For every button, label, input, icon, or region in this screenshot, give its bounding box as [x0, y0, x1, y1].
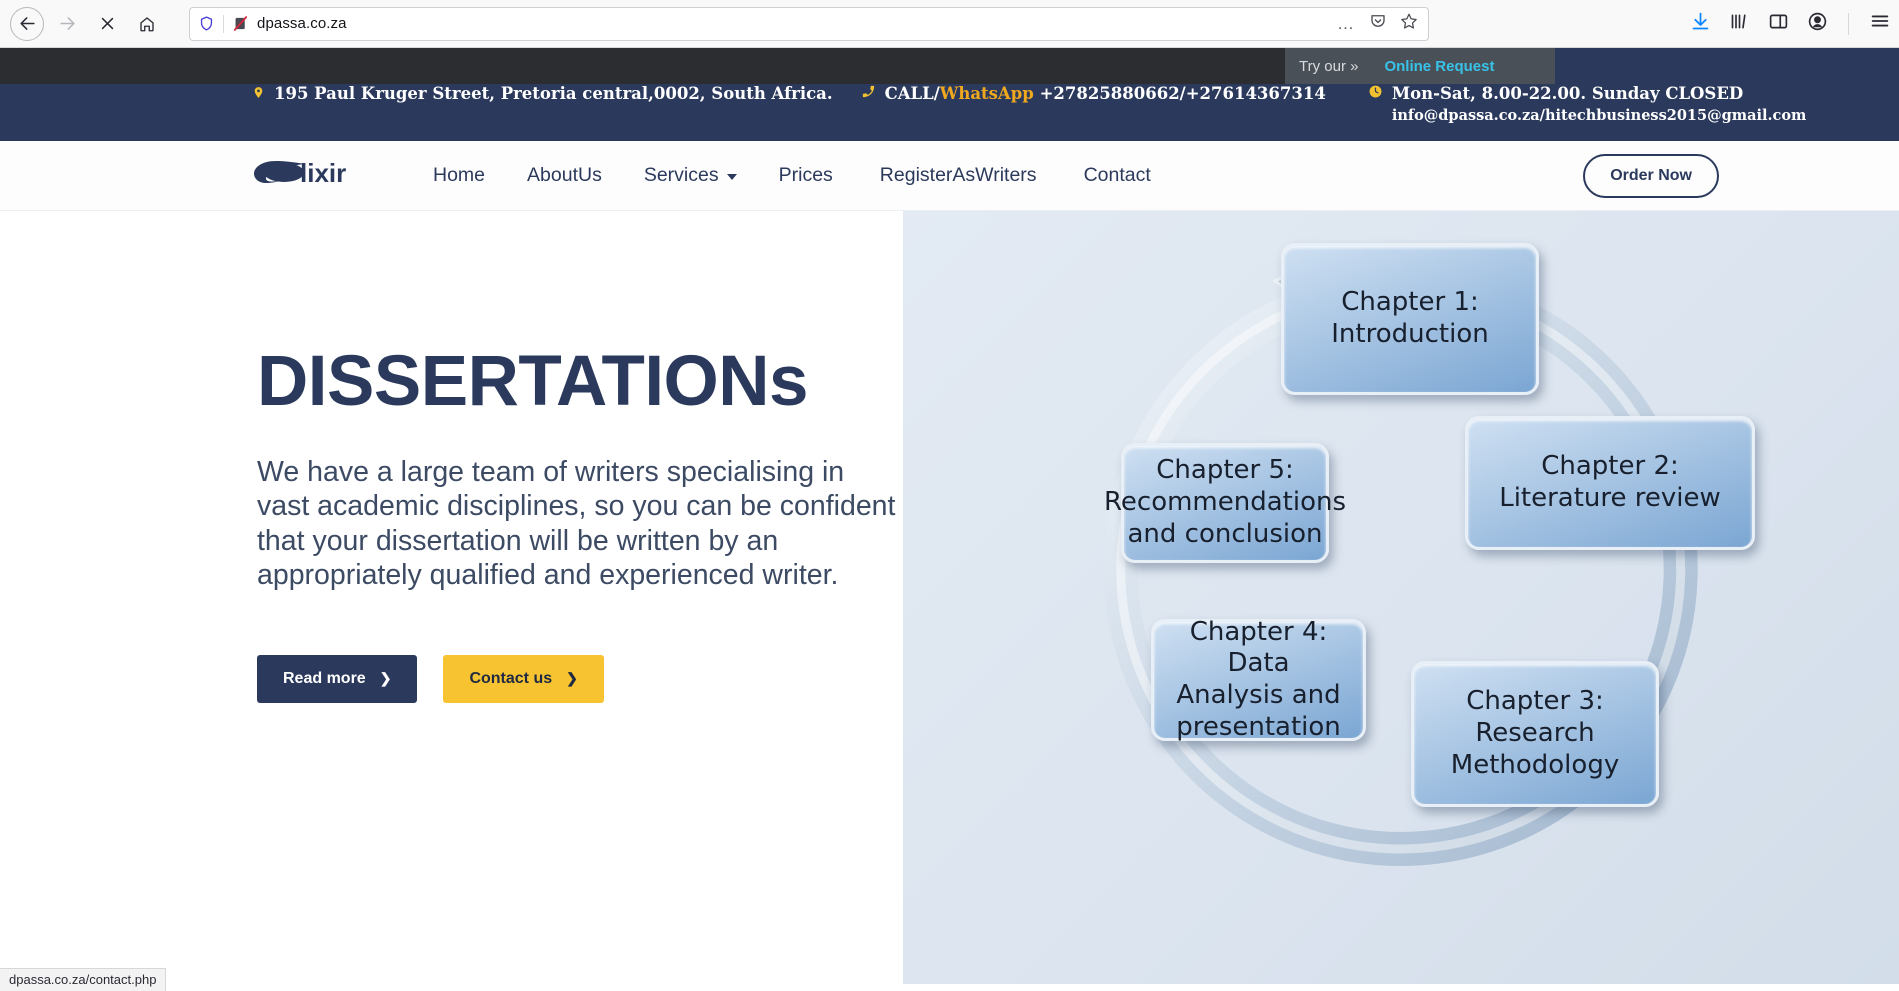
library-icon[interactable]	[1729, 11, 1750, 37]
chevron-down-icon	[727, 174, 737, 180]
email-text[interactable]: info@dpassa.co.za/hitechbusiness2015@gma…	[1392, 107, 1807, 124]
order-now-button[interactable]: Order Now	[1583, 154, 1719, 198]
nav-item-label: RegisterAsWriters	[880, 164, 1037, 187]
nav-item-label: Contact	[1084, 164, 1151, 187]
url-text[interactable]: dpassa.co.za	[257, 15, 1329, 32]
stop-icon[interactable]	[90, 7, 124, 41]
nav-item-contact[interactable]: Contact	[1063, 164, 1172, 187]
forward-arrow-icon	[50, 7, 84, 41]
chevron-right-icon: ❯	[566, 670, 578, 687]
notification-online-request-link[interactable]: Online Request	[1358, 58, 1494, 75]
pocket-icon[interactable]	[1369, 12, 1387, 35]
toolbar-divider	[1848, 13, 1849, 35]
download-icon[interactable]	[1690, 11, 1711, 37]
logo-text: lixir	[300, 158, 346, 188]
status-bar-link-preview: dpassa.co.za/contact.php	[0, 968, 166, 991]
hours-text: Mon-Sat, 8.00-22.00. Sunday CLOSED	[1392, 84, 1807, 103]
address-text: 195 Paul Kruger Street, Pretoria central…	[274, 84, 833, 103]
phone-icon	[861, 84, 876, 104]
star-icon[interactable]	[1400, 12, 1418, 35]
hamburger-menu-icon[interactable]	[1869, 10, 1891, 37]
chapter-4-box: Chapter 4: Data Analysis and presentatio…	[1151, 619, 1366, 741]
sidebar-icon[interactable]	[1768, 11, 1789, 37]
call-text: CALL/WhatsApp +27825880662/+27614367314	[885, 84, 1326, 103]
chrome-right-actions	[1690, 0, 1891, 47]
tracker-blocked-icon[interactable]	[232, 15, 249, 32]
address-block: 195 Paul Kruger Street, Pretoria central…	[252, 84, 833, 106]
hours-block: Mon-Sat, 8.00-22.00. Sunday CLOSED info@…	[1368, 84, 1807, 124]
clock-icon	[1368, 84, 1383, 104]
phone-numbers: +27825880662/+27614367314	[1040, 84, 1326, 103]
contact-us-button[interactable]: Contact us ❯	[443, 655, 603, 703]
hero-paragraph: We have a large team of writers speciali…	[257, 455, 903, 593]
nav-item-label: Services	[644, 164, 719, 187]
home-icon[interactable]	[130, 7, 164, 41]
page-title: DISSERTATIONs	[257, 346, 903, 417]
nav-item-home[interactable]: Home	[412, 164, 506, 187]
hero-buttons: Read more ❯ Contact us ❯	[257, 655, 903, 703]
call-prefix: CALL/	[885, 84, 940, 103]
chapter-2-box: Chapter 2: Literature review	[1465, 416, 1755, 550]
nav-item-registeraswriters[interactable]: RegisterAsWriters	[854, 164, 1063, 187]
hero-section: DISSERTATIONs We have a large team of wr…	[0, 211, 1899, 984]
contact-us-label: Contact us	[469, 670, 552, 688]
notification-backdrop	[0, 48, 1285, 84]
chapter-1-box: Chapter 1: Introduction	[1281, 243, 1539, 395]
page-viewport: Try our » Online Request 195 Paul Kruger…	[0, 48, 1899, 991]
read-more-button[interactable]: Read more ❯	[257, 655, 417, 703]
location-pin-icon	[252, 84, 265, 106]
hero-illustration: Chapter 1: Introduction Chapter 2: Liter…	[903, 211, 1899, 984]
notification-strip[interactable]: Try our » Online Request	[1285, 48, 1555, 84]
browser-toolbar: dpassa.co.za …	[0, 0, 1899, 48]
hero-content: DISSERTATIONs We have a large team of wr…	[0, 211, 903, 984]
url-bar[interactable]: dpassa.co.za …	[189, 7, 1429, 41]
whatsapp-label: WhatsApp	[940, 84, 1034, 103]
nav-item-prices[interactable]: Prices	[758, 164, 854, 187]
nav-item-label: AboutUs	[527, 164, 602, 187]
site-logo[interactable]: lixir	[252, 153, 370, 199]
nav-item-label: Prices	[779, 164, 833, 187]
nav-item-aboutus[interactable]: AboutUs	[506, 164, 623, 187]
account-icon[interactable]	[1807, 11, 1828, 37]
call-block: CALL/WhatsApp +27825880662/+27614367314	[861, 84, 1326, 104]
nav-item-services[interactable]: Services	[623, 164, 758, 187]
navigation-buttons	[10, 7, 164, 41]
shield-icon[interactable]	[198, 15, 215, 32]
notification-try-label: Try our »	[1285, 58, 1358, 75]
chapter-3-box: Chapter 3: Research Methodology	[1411, 661, 1659, 807]
read-more-label: Read more	[283, 670, 366, 688]
nav-links: Home AboutUs Services Prices RegisterAsW…	[412, 164, 1172, 187]
nav-item-label: Home	[433, 164, 485, 187]
chevron-right-icon: ❯	[380, 670, 392, 687]
site-navbar: lixir Home AboutUs Services Prices Regis…	[0, 141, 1899, 211]
urlbar-divider	[223, 15, 224, 33]
back-arrow-icon[interactable]	[10, 7, 44, 41]
urlbar-actions: …	[1337, 12, 1420, 35]
page-actions-icon[interactable]: …	[1337, 15, 1356, 32]
chapter-5-box: Chapter 5: Recommendations and conclusio…	[1121, 443, 1329, 563]
